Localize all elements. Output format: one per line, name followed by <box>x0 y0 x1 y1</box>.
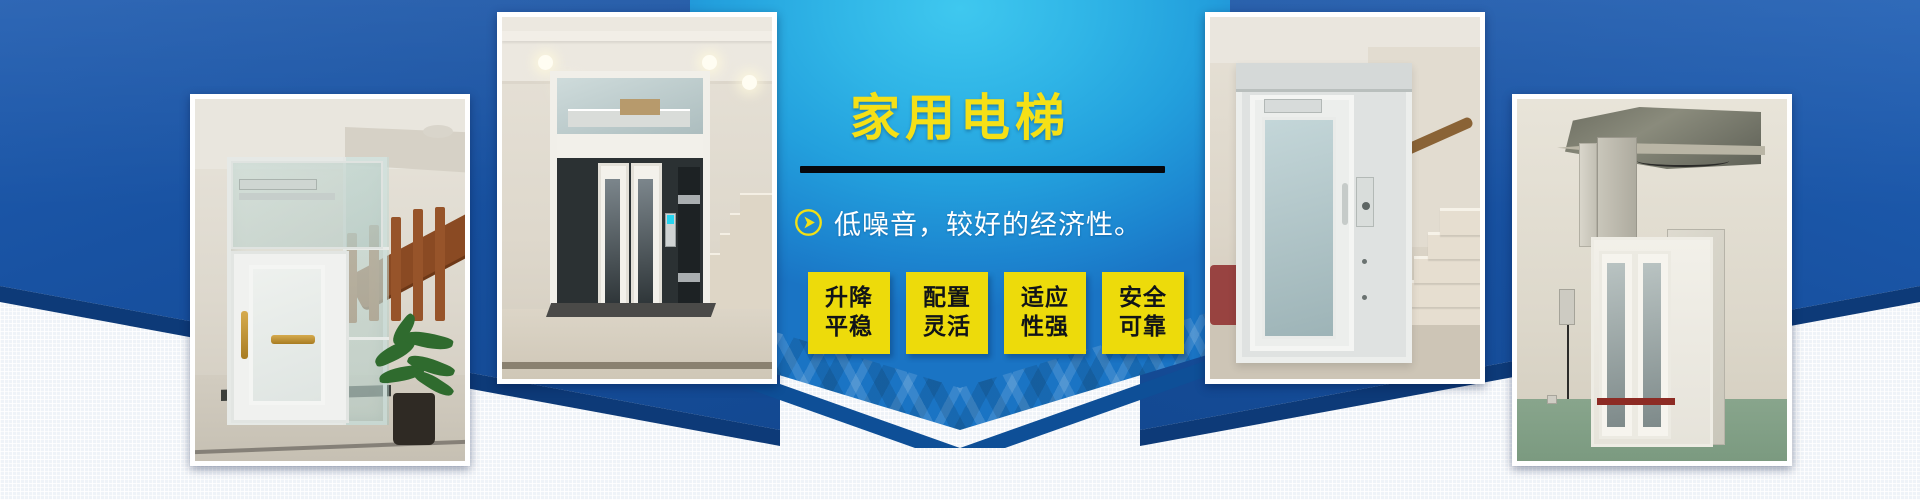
circled-play-arrow-icon <box>794 208 823 237</box>
feature-badge-3-line1: 适应 <box>1021 284 1069 313</box>
subtitle-row: 低噪音，较好的经济性。 <box>794 203 1142 242</box>
feature-badge-1[interactable]: 升降 平稳 <box>808 272 890 354</box>
feature-badge-4-line2: 可靠 <box>1119 313 1167 342</box>
photo-glass-shaft-elevator-with-staircase-and-plant[interactable] <box>190 94 470 466</box>
feature-badge-list: 升降 平稳 配置 灵活 适应 性强 安全 可靠 <box>808 272 1184 354</box>
feature-badge-1-line1: 升降 <box>825 284 873 313</box>
feature-badge-3[interactable]: 适应 性强 <box>1004 272 1086 354</box>
banner-copy-block: 家用电梯 低噪音，较好的经济性。 升降 平稳 配置 灵活 适应 性强 <box>690 0 1230 430</box>
feature-badge-2[interactable]: 配置 灵活 <box>906 272 988 354</box>
home-elevator-promo-banner: 家用电梯 低噪音，较好的经济性。 升降 平稳 配置 灵活 适应 性强 <box>0 0 1920 500</box>
photo-glass-cabin-elevator-beside-marble-stairs[interactable] <box>1205 12 1485 384</box>
feature-badge-2-line1: 配置 <box>923 284 971 313</box>
page-title: 家用电梯 <box>690 78 1230 150</box>
feature-badge-4-line1: 安全 <box>1119 284 1167 313</box>
title-divider <box>800 166 1165 173</box>
feature-badge-1-line2: 平稳 <box>825 313 873 342</box>
feature-badge-4[interactable]: 安全 可靠 <box>1102 272 1184 354</box>
feature-badge-3-line2: 性强 <box>1021 313 1069 342</box>
subtitle-text: 低噪音，较好的经济性。 <box>834 203 1142 242</box>
photo-elevator-installation-in-room[interactable] <box>1512 94 1792 466</box>
feature-badge-2-line2: 灵活 <box>923 313 971 342</box>
